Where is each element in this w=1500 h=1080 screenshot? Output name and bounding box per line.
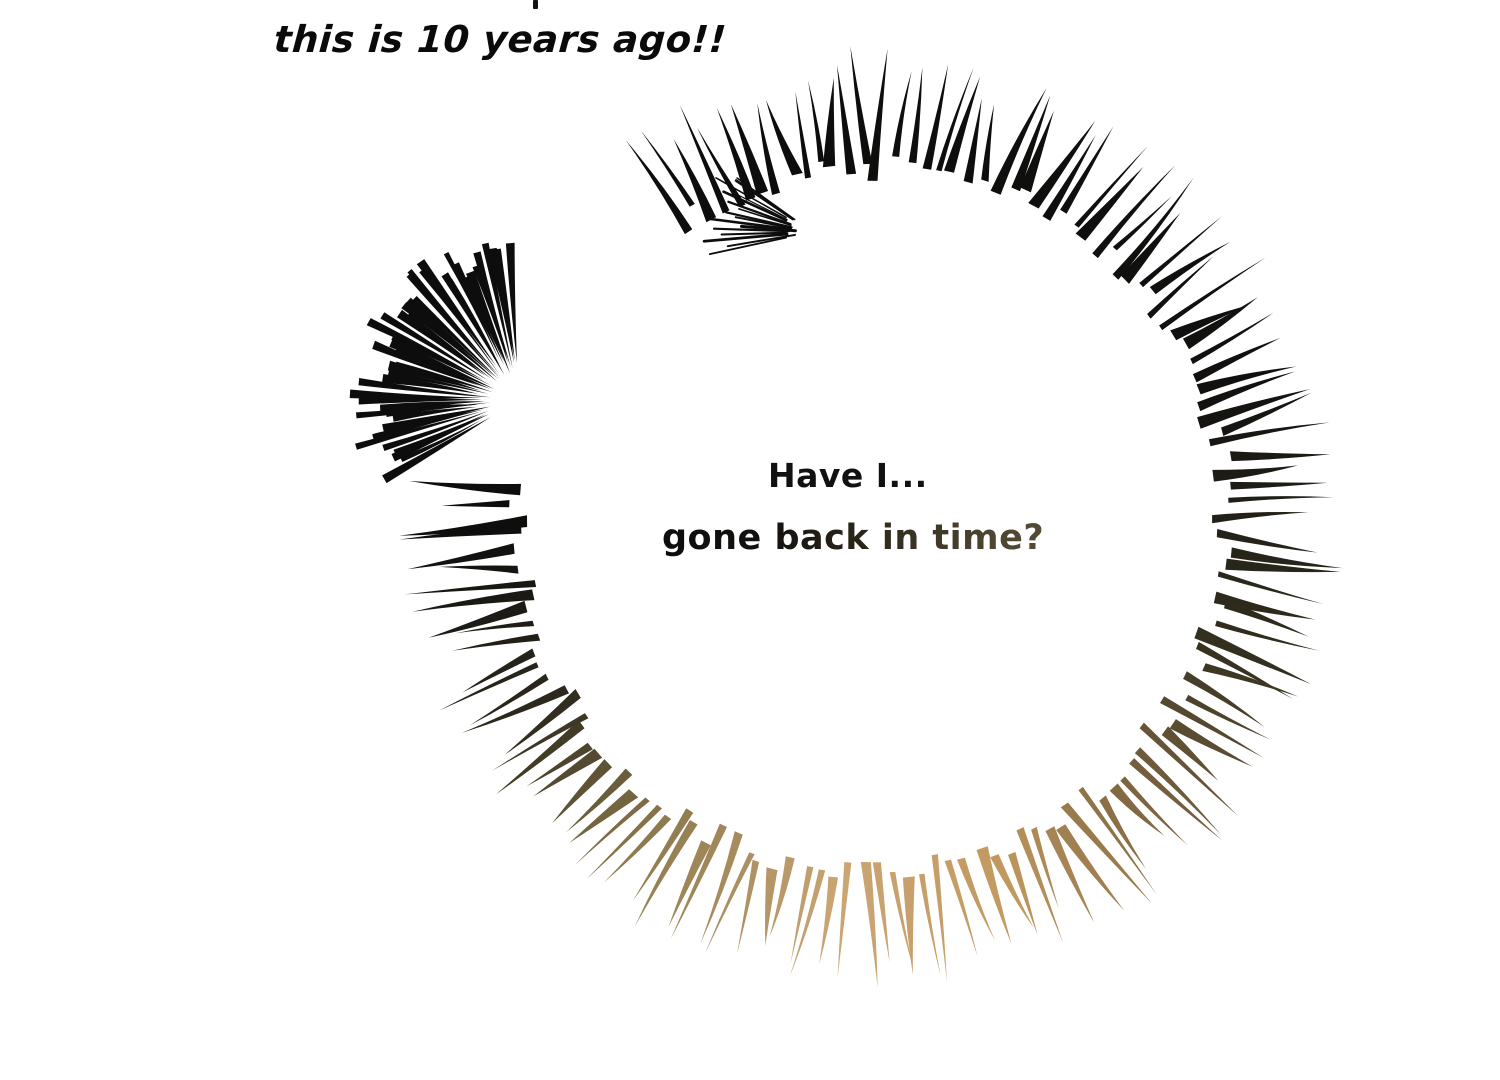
burst-notch-spike [386,404,478,417]
burst-spike [936,67,974,171]
burst-spike [873,862,890,962]
burst-spike [1129,758,1222,840]
dialogue-line-top: this is 10 years ago!! [272,18,728,61]
burst-spike [1076,167,1144,241]
comic-panel: this is 10 years ago!! Have I... gone ba… [0,0,1500,1080]
burst-spike [575,798,650,866]
burst-spike [1170,719,1253,767]
burst-spike [1221,393,1312,436]
burst-spike [923,64,949,170]
burst-overlap-spike [704,234,787,241]
burst-overlap-spike [728,202,790,224]
burst-overlap-spike [742,226,796,230]
burst-spike [452,634,540,651]
burst-notch-spike [395,362,493,393]
burst-spike [1196,642,1293,699]
burst-spike [903,876,915,975]
burst-overlap-spike [710,238,786,255]
burst-overlap-spike [724,192,787,221]
burst-spike [1197,389,1310,429]
burst-spike [1160,696,1263,758]
burst-spike [496,720,584,794]
burst-spike [1183,297,1258,349]
burst-spike [944,77,980,173]
stray-ink-mark [533,0,538,9]
burst-overlap-spike [736,217,790,228]
burst-spike [1197,371,1295,411]
burst-notch-spike [473,265,508,363]
burst-spike [674,139,717,222]
burst-notch-spike [447,279,501,368]
burst-spike [671,824,727,940]
burst-spike [1016,827,1063,942]
burst-spike [769,856,794,937]
burst-spike [1120,776,1188,845]
burst-spike [1043,135,1096,221]
burst-spike [919,874,941,976]
burst-spike [1231,547,1343,568]
burst-spike [1170,305,1248,340]
burst-notch-spike [407,273,500,378]
burst-spike [1031,827,1059,909]
burst-notch-spike [465,275,504,362]
burst-spike [587,805,663,880]
burst-spike [766,100,803,175]
burst-spike [1162,726,1219,781]
burst-spike [1092,165,1175,258]
burst-overlap-spike [726,212,792,227]
dialogue-line-have-i: Have I... [768,456,928,495]
burst-spike [1190,313,1274,365]
burst-spike [1139,216,1222,287]
burst-spike [909,67,923,163]
burst-spike [1185,695,1270,740]
burst-spike [1230,451,1331,461]
burst-spike [700,831,743,944]
burst-overlap-spike [716,178,786,218]
burst-spike [635,820,698,927]
burst-notch-spike [356,403,490,419]
burst-spike [957,858,995,941]
burst-notch-spike [359,378,491,397]
burst-notch-spike [492,249,515,361]
dialogue-line-gone-back-in-time: gone back in time? [662,518,1044,558]
burst-notch-spike [397,310,485,376]
burst-notch-spike [382,374,478,394]
burst-notch-spike [413,296,499,379]
burst-spike [1056,824,1124,911]
burst-spike [399,515,527,536]
burst-spike-group [399,46,1343,987]
burst-notch-group [350,243,517,483]
burst-overlap-spike [728,235,795,246]
burst-spike [439,566,518,574]
burst-spike [861,862,878,988]
burst-spike [1225,559,1340,573]
burst-notch-spike [350,390,482,399]
burst-overlap-spike [736,181,793,219]
burst-spike [1193,338,1281,383]
burst-notch-spike [372,341,479,386]
burst-spike [1110,784,1165,836]
burst-spike [850,46,872,164]
burst-spike [991,88,1047,195]
burst-spike [1159,258,1266,331]
burst-spike [405,580,536,594]
burst-spike [412,589,534,611]
burst-spike [823,78,835,168]
burst-notch-spike [394,346,490,388]
burst-spike [533,749,602,797]
burst-spike [1150,242,1231,294]
burst-spike [680,105,730,214]
burst-notch-spike [382,407,490,434]
burst-spike [1217,529,1318,553]
burst-spike [837,65,856,175]
burst-spike [1218,571,1324,604]
burst-spike [633,808,694,901]
burst-notch-spike [388,361,480,391]
burst-spike [981,104,994,182]
burst-notch-spike [392,414,490,462]
burst-spike [1028,121,1095,209]
burst-overlap-spike [738,195,787,219]
burst-spike [1135,747,1221,835]
burst-spike [731,104,768,195]
burst-spike [407,543,514,569]
burst-spike [838,862,852,978]
burst-notch-spike [466,271,510,374]
burst-notch-spike [405,313,491,379]
burst-notch-spike [408,269,499,375]
burst-spike [462,649,535,693]
burst-spike [1197,367,1297,395]
burst-spike [757,103,780,195]
burst-spike [990,854,1033,928]
burst-notch-spike [506,243,517,363]
burst-spike [527,743,593,787]
burst-spike [504,689,581,755]
burst-spike [977,846,1012,944]
burst-spike [1061,803,1152,904]
burst-notch-spike [372,410,483,442]
burst-spike [932,854,947,982]
burst-spike [1228,496,1333,503]
burst-spike [1212,465,1298,481]
burst-spike [1215,621,1319,651]
burst-notch-spike [367,318,483,380]
burst-spike [1113,196,1172,251]
burst-notch-spike [359,397,482,404]
burst-notch-spike [382,417,491,483]
burst-notch-spike [406,298,495,377]
burst-notch-spike [391,335,491,386]
burst-spike [1079,787,1157,895]
burst-overlap-spike [714,229,789,232]
burst-spike [890,872,914,970]
burst-notch-spike [473,251,511,367]
burst-spike [400,525,522,540]
burst-spike [765,867,777,946]
burst-spike [795,91,811,178]
burst-spike [717,108,756,201]
burst-spike [1113,178,1194,280]
burst-notch-spike [400,420,481,462]
burst-spike [1147,256,1214,319]
burst-spike [790,870,826,977]
burst-spike [1209,422,1330,446]
burst-spike [626,140,693,234]
burst-overlap-spike [739,209,791,225]
burst-notch-spike [380,401,485,413]
burst-notch-spike [355,412,482,450]
burst-spike [1011,95,1050,191]
burst-notch-spike [388,370,488,394]
burst-spike [641,130,695,207]
burst-spike [945,860,978,957]
burst-spike [1224,600,1309,637]
burst-spike [470,674,549,726]
burst-spike [1140,723,1239,817]
burst-spike [566,769,632,833]
burst-spike [1046,826,1095,923]
burst-spike [867,49,887,181]
burst-spike [604,815,671,883]
burst-notch-spike [488,248,514,363]
burst-spike [1212,512,1308,523]
burst-notch-spike [394,414,486,456]
burst-spike [1074,146,1147,227]
burst-spike [409,481,521,495]
burst-spike [819,877,838,965]
burst-spike [569,789,638,843]
burst-spike [808,80,824,162]
burst-overlap-group [704,178,795,254]
burst-overlap-spike [737,178,795,220]
burst-spike [1099,795,1146,869]
burst-spike [462,685,569,733]
burst-spike [1183,671,1265,727]
burst-notch-spike [382,411,489,451]
burst-spike [552,759,612,823]
burst-spike [442,500,510,507]
burst-spike [1008,852,1038,935]
burst-notch-spike [419,270,500,375]
burst-spike [791,866,814,963]
burst-notch-spike [444,252,500,361]
burst-spike [1121,213,1181,284]
burst-spike [1060,126,1113,214]
burst-notch-spike [417,259,496,366]
burst-spike [1020,111,1054,193]
burst-spike [1202,663,1298,696]
burst-spike [697,127,746,207]
burst-spike [456,621,535,634]
burst-spike [737,860,759,954]
burst-spike [668,840,710,927]
burst-spike [892,71,912,157]
burst-spike [1194,627,1311,684]
burst-spike [492,713,588,771]
burst-notch-spike [453,262,505,365]
burst-spike [705,852,755,954]
burst-notch-spike [389,339,494,390]
burst-spike [1214,592,1316,620]
burst-spike [1230,482,1328,490]
burst-notch-spike [380,312,488,380]
burst-notch-spike [393,407,477,422]
burst-spike [428,601,527,638]
burst-spike [964,98,982,183]
burst-overlap-spike [707,219,791,230]
burst-overlap-spike [722,233,787,235]
burst-notch-spike [442,272,505,375]
burst-notch-spike [401,302,497,381]
burst-notch-spike [482,243,513,368]
burst-spike [439,662,539,710]
